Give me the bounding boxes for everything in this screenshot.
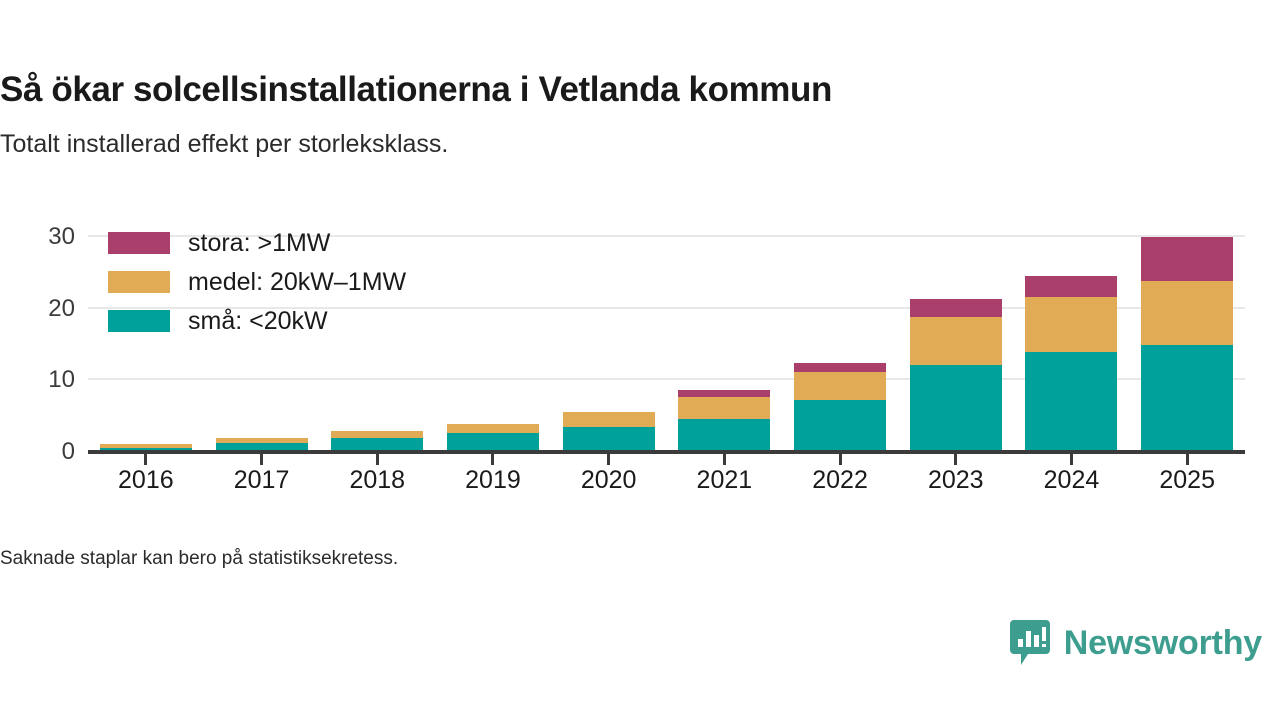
bar-segment[interactable]	[1025, 297, 1117, 352]
page-title: Så ökar solcellsinstallationerna i Vetla…	[0, 71, 1240, 110]
legend-item-1[interactable]: medel: 20kW–1MW	[108, 269, 406, 295]
x-axis-tick-label: 2023	[928, 466, 984, 495]
stacked-bar[interactable]	[1025, 276, 1117, 452]
legend-item-label: små: <20kW	[188, 307, 328, 336]
x-axis-tick-label: 2022	[812, 466, 868, 495]
bar-segment[interactable]	[910, 317, 1002, 365]
bar-column-2021[interactable]: 2021	[667, 237, 783, 452]
bar-column-2019[interactable]: 2019	[435, 237, 551, 452]
logo-wordmark: Newsworthy	[1064, 624, 1262, 663]
legend-color-swatch	[108, 232, 170, 254]
chart-legend: stora: >1MWmedel: 20kW–1MWsmå: <20kW	[108, 230, 406, 334]
x-axis-tick-label: 2025	[1159, 466, 1215, 495]
bar-segment[interactable]	[1141, 345, 1233, 453]
bar-column-2025[interactable]: 2025	[1129, 237, 1245, 452]
stacked-bar[interactable]	[563, 412, 655, 452]
bar-segment[interactable]	[331, 431, 423, 439]
bar-column-2023[interactable]: 2023	[898, 237, 1014, 452]
bar-column-2024[interactable]: 2024	[1014, 237, 1130, 452]
bar-segment[interactable]	[910, 299, 1002, 317]
stacked-bar[interactable]	[331, 431, 423, 452]
x-axis-tick-label: 2020	[581, 466, 637, 495]
legend-item-2[interactable]: små: <20kW	[108, 308, 406, 334]
legend-item-label: medel: 20kW–1MW	[188, 268, 406, 297]
x-axis-tick-label: 2019	[465, 466, 521, 495]
legend-color-swatch	[108, 310, 170, 332]
bar-column-2020[interactable]: 2020	[551, 237, 667, 452]
bar-segment[interactable]	[1141, 237, 1233, 281]
y-axis-tick-label: 10	[5, 366, 75, 394]
bar-segment[interactable]	[1025, 276, 1117, 298]
legend-item-0[interactable]: stora: >1MW	[108, 230, 406, 256]
bar-column-2022[interactable]: 2022	[782, 237, 898, 452]
stacked-bar[interactable]	[910, 299, 1002, 452]
chart-footnote: Saknade staplar kan bero på statistiksek…	[0, 548, 398, 570]
bar-segment[interactable]	[563, 412, 655, 427]
stacked-bar[interactable]	[1141, 237, 1233, 452]
x-axis-line	[88, 450, 1245, 454]
x-axis-tick-label: 2024	[1044, 466, 1100, 495]
bar-segment[interactable]	[563, 427, 655, 452]
x-axis-tick-label: 2018	[349, 466, 405, 495]
legend-item-label: stora: >1MW	[188, 229, 330, 258]
bar-segment[interactable]	[447, 424, 539, 433]
x-axis-tick-label: 2017	[234, 466, 290, 495]
legend-color-swatch	[108, 271, 170, 293]
y-axis-tick-label: 0	[5, 438, 75, 466]
x-axis-tick-label: 2016	[118, 466, 174, 495]
bar-segment[interactable]	[678, 419, 770, 452]
x-axis-tick-label: 2021	[697, 466, 753, 495]
bar-segment[interactable]	[794, 363, 886, 372]
page-subtitle: Totalt installerad effekt per storlekskl…	[0, 130, 448, 159]
bar-segment[interactable]	[1141, 281, 1233, 344]
bar-segment[interactable]	[794, 400, 886, 452]
bar-segment[interactable]	[794, 372, 886, 400]
bar-chart-speech-bubble-icon	[1010, 620, 1050, 666]
bar-segment[interactable]	[910, 365, 1002, 452]
stacked-bar[interactable]	[447, 424, 539, 452]
y-axis-tick-label: 30	[5, 223, 75, 251]
stacked-bar[interactable]	[678, 390, 770, 452]
stacked-bar[interactable]	[794, 363, 886, 452]
bar-segment[interactable]	[678, 397, 770, 419]
bar-segment[interactable]	[1025, 352, 1117, 452]
newsworthy-logo: Newsworthy	[1010, 620, 1262, 666]
y-axis-tick-label: 20	[5, 295, 75, 323]
chart-page: Så ökar solcellsinstallationerna i Vetla…	[0, 0, 1280, 720]
